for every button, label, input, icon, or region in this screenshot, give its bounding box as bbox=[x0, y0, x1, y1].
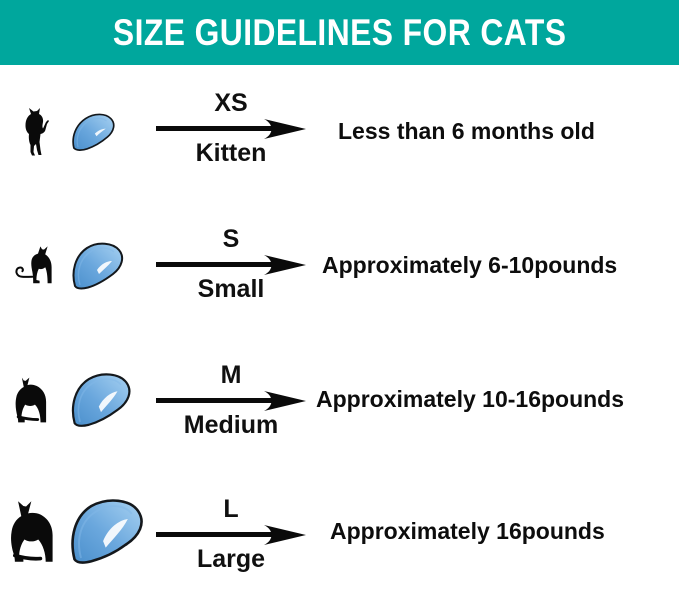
size-name-small: Small bbox=[198, 277, 265, 302]
size-code-xs: XS bbox=[214, 91, 247, 116]
cat-icon-cell-s bbox=[0, 199, 68, 333]
size-row-m: M Medium Approximately 10-16pounds bbox=[0, 333, 679, 467]
arrow-cell-s: S Small bbox=[146, 197, 316, 331]
description-cell-l: Approximately 16pounds bbox=[316, 465, 679, 599]
right-arrow-icon bbox=[156, 254, 306, 276]
nail-cap-m-icon bbox=[68, 372, 134, 428]
cat-sitting-large-silhouette-icon bbox=[2, 498, 66, 566]
description-cell-xs: Less than 6 months old bbox=[316, 65, 679, 199]
size-name-medium: Medium bbox=[184, 413, 278, 438]
nail-cap-xs-icon bbox=[68, 111, 120, 153]
description-cell-s: Approximately 6-10pounds bbox=[316, 199, 679, 333]
size-row-s: S Small Approximately 6-10pounds bbox=[0, 199, 679, 333]
arrow-cell-l: L Large bbox=[146, 467, 316, 601]
size-name-kitten: Kitten bbox=[196, 141, 267, 166]
size-guideline-infographic: SIZE GUIDELINES FOR CATS bbox=[0, 0, 679, 599]
size-code-m: M bbox=[221, 363, 242, 388]
arrow-cell-xs: XS Kitten bbox=[146, 61, 316, 195]
cat-sitting-medium-silhouette-icon bbox=[6, 373, 62, 427]
arrow-cell-m: M Medium bbox=[146, 333, 316, 467]
page-title: SIZE GUIDELINES FOR CATS bbox=[113, 14, 566, 51]
right-arrow-icon bbox=[156, 524, 306, 546]
kitten-standing-silhouette-icon bbox=[17, 107, 51, 157]
cat-icon-cell-xs bbox=[0, 65, 68, 199]
nail-cap-s-icon bbox=[68, 241, 128, 291]
description-text-l: Approximately 16pounds bbox=[330, 519, 605, 544]
nail-cap-cell-xs bbox=[68, 65, 146, 199]
right-arrow-icon bbox=[156, 118, 306, 140]
nail-cap-cell-m bbox=[68, 333, 146, 467]
cat-icon-cell-m bbox=[0, 333, 68, 467]
description-text-xs: Less than 6 months old bbox=[338, 119, 595, 144]
size-row-xs: XS Kitten Less than 6 months old bbox=[0, 65, 679, 199]
nail-cap-cell-s bbox=[68, 199, 146, 333]
description-cell-m: Approximately 10-16pounds bbox=[316, 333, 679, 467]
size-row-l: L Large Approximately 16pounds bbox=[0, 465, 679, 599]
description-text-s: Approximately 6-10pounds bbox=[322, 253, 617, 278]
nail-cap-l-icon bbox=[68, 499, 146, 565]
size-rows-container: XS Kitten Less than 6 months old bbox=[0, 65, 679, 599]
cat-icon-cell-l bbox=[0, 465, 68, 599]
size-code-l: L bbox=[223, 497, 238, 522]
description-text-m: Approximately 10-16pounds bbox=[316, 387, 624, 412]
nail-cap-cell-l bbox=[68, 465, 146, 599]
size-code-s: S bbox=[223, 227, 240, 252]
size-name-large: Large bbox=[197, 547, 265, 572]
cat-sitting-small-silhouette-icon bbox=[10, 244, 58, 288]
header-banner: SIZE GUIDELINES FOR CATS bbox=[0, 0, 679, 65]
right-arrow-icon bbox=[156, 390, 306, 412]
